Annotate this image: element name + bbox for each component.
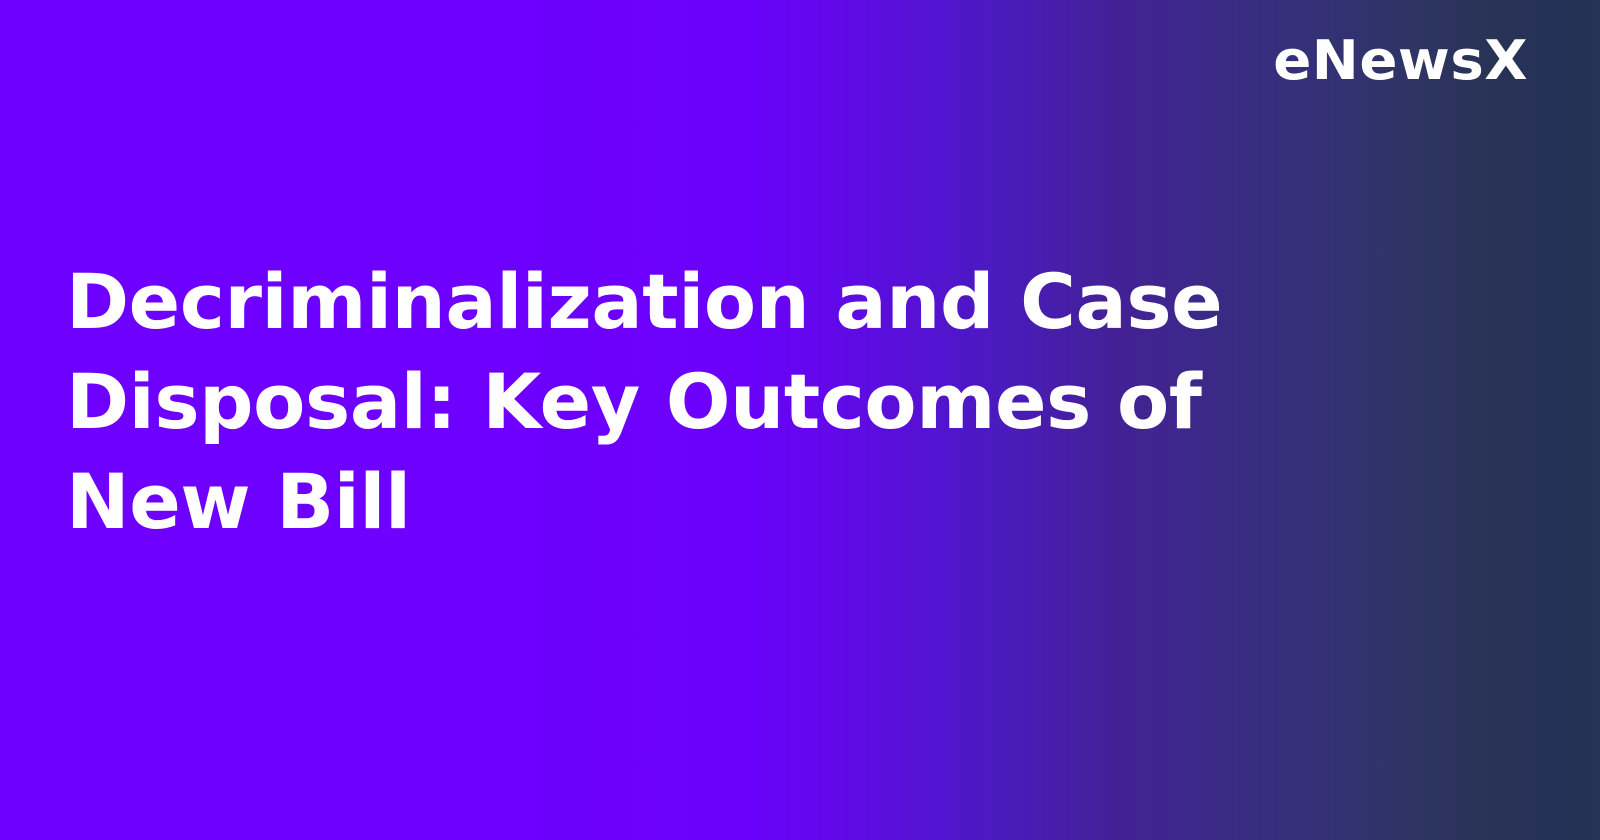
page-title: Decriminalization and Case Disposal: Key… (66, 252, 1386, 552)
brand-logo[interactable]: eNewsX (1283, 34, 1528, 88)
headline-block: Decriminalization and Case Disposal: Key… (66, 252, 1386, 552)
article-hero-card: eNewsX Decriminalization and Case Dispos… (0, 0, 1600, 840)
brand-name-text: eNewsX (1273, 34, 1528, 88)
